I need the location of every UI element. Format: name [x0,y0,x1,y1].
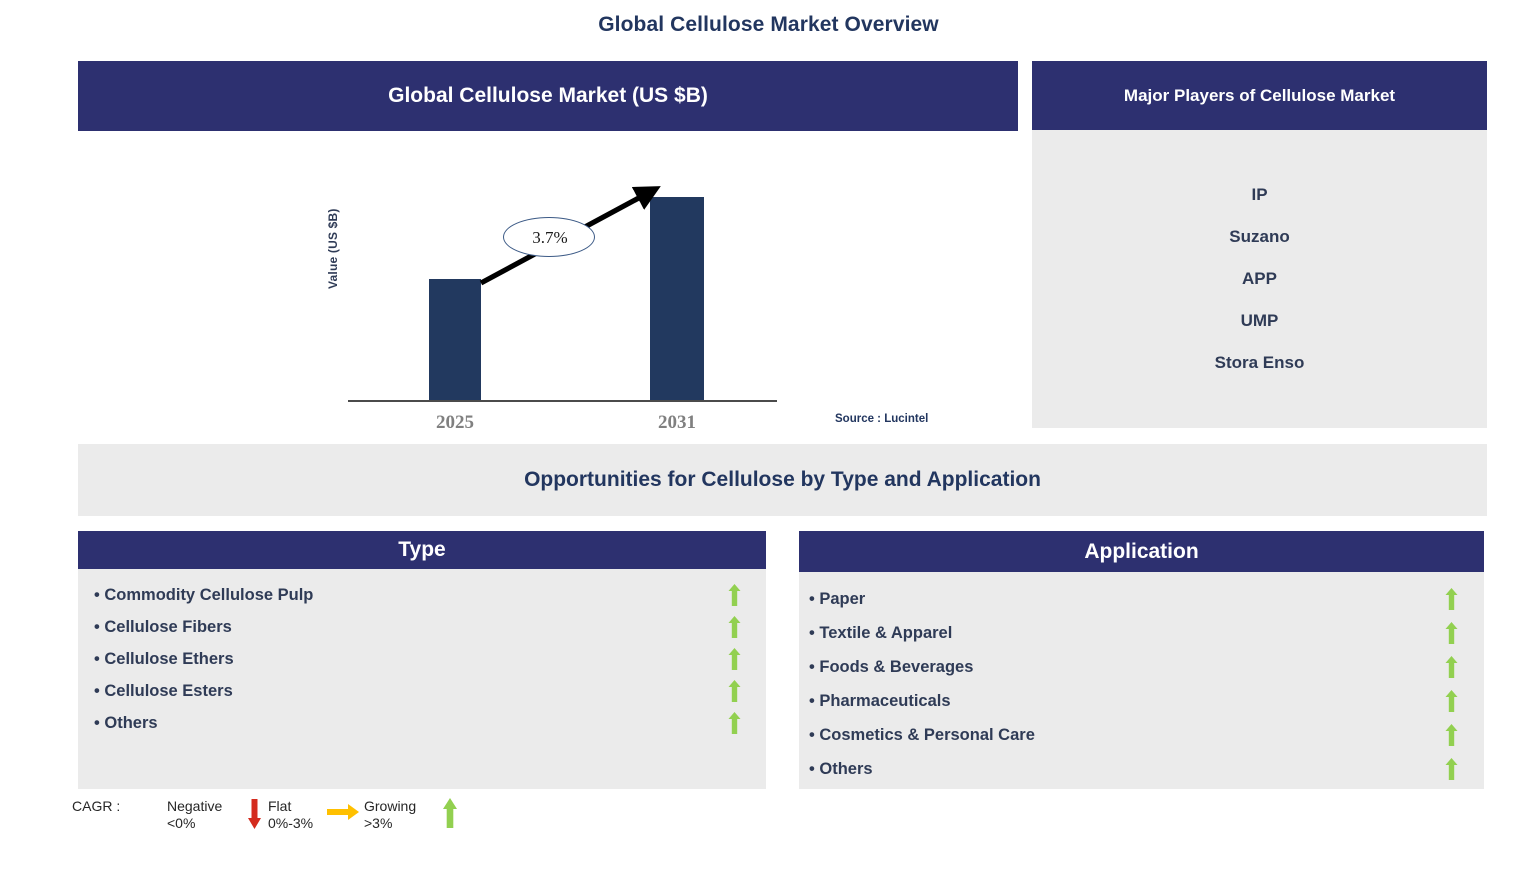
cagr-legend-negative-label: Negative [167,798,222,815]
x-tick-label-2025: 2025 [408,412,502,434]
cagr-legend-growing: Growing >3% [364,798,416,832]
type-row-label: • Commodity Cellulose Pulp [94,586,313,605]
player-item: Stora Enso [1032,342,1487,384]
cagr-callout-bubble: 3.7% [503,217,595,257]
cagr-legend: CAGR : Negative <0% Flat 0%-3% Growing >… [72,796,502,846]
trend-growing-up-arrow-icon [728,584,741,606]
chart-card-header: Global Cellulose Market (US $B) [78,61,1018,131]
application-panel: Application • Paper • Textile & Apparel … [799,531,1484,789]
application-panel-header: Application [799,531,1484,572]
opportunities-banner: Opportunities for Cellulose by Type and … [78,444,1487,516]
type-row: • Cellulose Ethers [78,643,766,675]
trend-growing-up-arrow-icon [728,616,741,638]
trend-growing-up-arrow-icon [728,648,741,670]
cagr-legend-flat-label: Flat [268,798,313,815]
major-players-card: Major Players of Cellulose Market IP Suz… [1032,61,1487,428]
application-row-label: • Foods & Beverages [809,658,973,677]
trend-growing-up-arrow-icon [1445,758,1458,780]
application-row-label: • Paper [809,590,865,609]
type-panel-header: Type [78,531,766,569]
type-row: • Others [78,707,766,739]
player-item: Suzano [1032,216,1487,258]
bar-2031 [650,197,704,400]
cagr-legend-growing-label: Growing [364,798,416,815]
trend-growing-up-arrow-icon [1445,690,1458,712]
type-row: • Cellulose Fibers [78,611,766,643]
page-title: Global Cellulose Market Overview [0,13,1537,37]
application-row-label: • Pharmaceuticals [809,692,951,711]
application-row: • Paper [799,582,1484,616]
bar-2025 [429,279,481,400]
type-row-label: • Cellulose Fibers [94,618,232,637]
chart-card-title: Global Cellulose Market (US $B) [78,61,1018,131]
player-item: IP [1032,174,1487,216]
cagr-legend-negative-range: <0% [167,815,222,832]
application-row-label: • Cosmetics & Personal Care [809,726,1035,745]
trend-growing-up-arrow-icon [1445,588,1458,610]
chart-y-axis-label: Value (US $B) [326,208,340,289]
major-players-title: Major Players of Cellulose Market [1032,61,1487,130]
application-row: • Others [799,752,1484,786]
application-row-label: • Others [809,760,873,779]
source-note: Source : Lucintel [835,413,928,425]
cagr-legend-flat-range: 0%-3% [268,815,313,832]
cagr-legend-negative: Negative <0% [167,798,222,832]
chart-plot-area: Value (US $B) 2025 2031 3.7% [78,131,1018,431]
cagr-legend-title: CAGR : [72,798,120,814]
player-item: APP [1032,258,1487,300]
chart-canvas: 2025 2031 3.7% [348,131,988,431]
opportunities-banner-title: Opportunities for Cellulose by Type and … [78,444,1487,516]
trend-flat-right-arrow-icon [327,804,359,820]
type-row: • Commodity Cellulose Pulp [78,579,766,611]
trend-growing-up-arrow-icon [728,712,741,734]
chart-x-axis-line [348,400,777,402]
cagr-legend-growing-range: >3% [364,815,416,832]
trend-growing-up-arrow-icon [1445,656,1458,678]
type-row-label: • Others [94,714,158,733]
type-panel: Type • Commodity Cellulose Pulp • Cellul… [78,531,766,789]
infographic-page: Global Cellulose Market Overview Global … [0,0,1537,872]
application-row: • Cosmetics & Personal Care [799,718,1484,752]
type-row-label: • Cellulose Esters [94,682,233,701]
market-chart-card: Global Cellulose Market (US $B) Value (U… [78,61,1018,431]
application-panel-body: • Paper • Textile & Apparel • Foods & Be… [799,572,1484,789]
major-players-list: IP Suzano APP UMP Stora Enso [1032,130,1487,428]
cagr-value: 3.7% [504,218,596,258]
type-row: • Cellulose Esters [78,675,766,707]
major-players-header: Major Players of Cellulose Market [1032,61,1487,130]
trend-growing-up-arrow-icon [1445,724,1458,746]
application-panel-title: Application [799,531,1484,572]
cagr-legend-flat: Flat 0%-3% [268,798,313,832]
trend-negative-down-arrow-icon [247,799,262,829]
player-item: UMP [1032,300,1487,342]
type-row-label: • Cellulose Ethers [94,650,234,669]
trend-growing-up-arrow-icon [728,680,741,702]
application-row: • Pharmaceuticals [799,684,1484,718]
application-row: • Foods & Beverages [799,650,1484,684]
application-row: • Textile & Apparel [799,616,1484,650]
trend-growing-up-arrow-icon [442,798,458,828]
trend-growing-up-arrow-icon [1445,622,1458,644]
application-row-label: • Textile & Apparel [809,624,952,643]
x-tick-label-2031: 2031 [630,412,724,434]
type-panel-body: • Commodity Cellulose Pulp • Cellulose F… [78,569,766,789]
type-panel-title: Type [78,531,766,569]
